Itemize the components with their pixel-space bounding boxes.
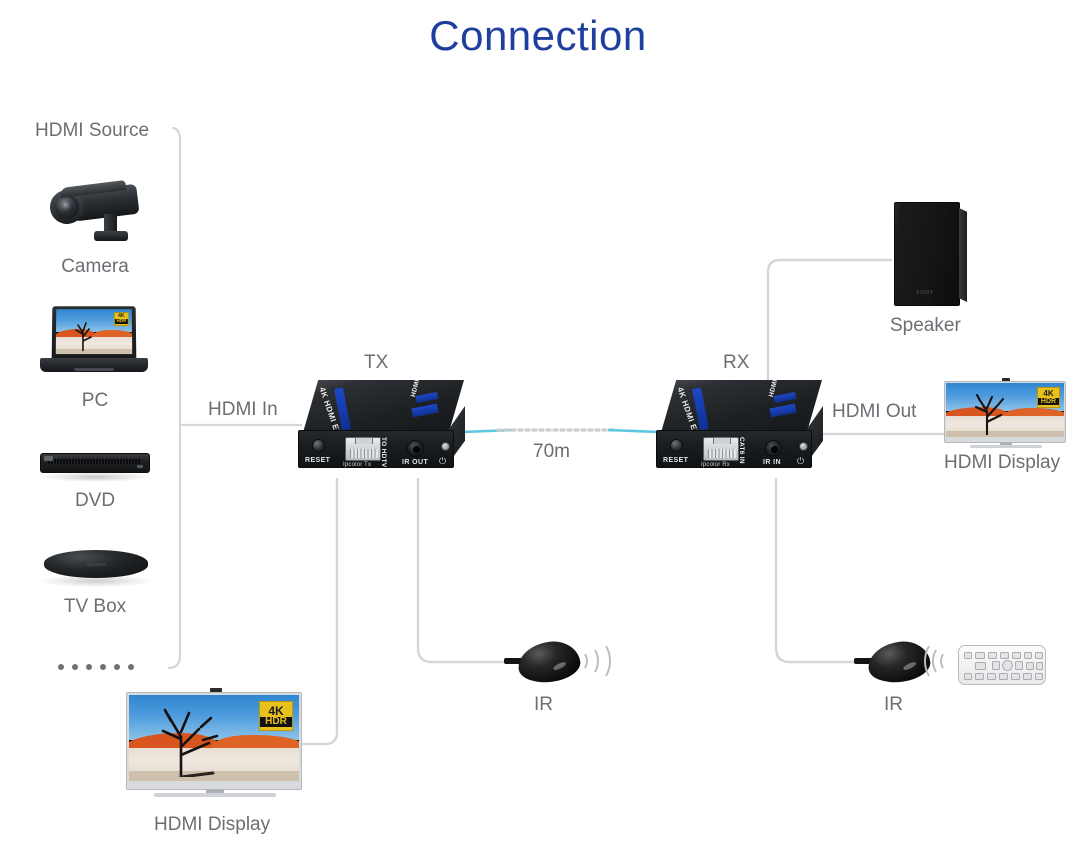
laptop-icon: 4K HDR bbox=[40, 306, 150, 382]
cable-rx-ir-in bbox=[776, 478, 858, 662]
tx-rj45-label: Ipcolor Tx bbox=[343, 462, 371, 468]
tx-power-led bbox=[441, 442, 450, 451]
tx-rj45-side-label: TO HDTV bbox=[380, 437, 387, 468]
cable-tx-ir-out bbox=[418, 478, 508, 662]
power-icon: ⏻ bbox=[797, 456, 804, 467]
rx-rj45-label: Ipcolor Rx bbox=[701, 462, 730, 468]
tx-ir-out-jack[interactable] bbox=[407, 440, 424, 457]
rx-label: RX bbox=[723, 352, 749, 374]
rx-front-panel: RESET Ipcolor Rx CAT6 IN IR IN ⏻ bbox=[656, 430, 812, 468]
tx-rj45-notch bbox=[355, 437, 373, 444]
tx-front-panel: RESET Ipcolor Tx TO HDTV IR OUT ⏻ bbox=[298, 430, 454, 468]
source-label-dvd: DVD bbox=[20, 490, 170, 512]
rx-rj45-side-label: CAT6 IN bbox=[738, 437, 745, 464]
dvd-player-icon bbox=[38, 450, 153, 484]
tv-box-icon bbox=[40, 548, 152, 588]
cable-tx-to-display bbox=[302, 478, 337, 744]
hdmi-in-label: HDMI In bbox=[208, 399, 278, 421]
remote-control-icon bbox=[958, 645, 1046, 685]
rx-rj45-pins bbox=[708, 449, 736, 458]
diagram-canvas: Connection HDMI Source bbox=[0, 0, 1076, 848]
rx-reset-button[interactable] bbox=[670, 439, 683, 452]
source-label-pc: PC bbox=[20, 390, 170, 412]
hdmi-display-bottom-label: HDMI Display bbox=[154, 814, 270, 836]
distance-label: 70m bbox=[533, 441, 570, 463]
rx-power-led bbox=[799, 442, 808, 451]
security-camera-icon bbox=[38, 176, 152, 256]
speaker-label: Speaker bbox=[890, 315, 961, 337]
source-label-tvbox: TV Box bbox=[20, 596, 170, 618]
cable-cat6-right bbox=[608, 430, 660, 432]
ir-tx-label: IR bbox=[534, 694, 553, 716]
badge-hdr-text: HDR bbox=[260, 717, 292, 727]
rx-rj45-port[interactable] bbox=[703, 437, 739, 461]
tx-rj45-port[interactable] bbox=[345, 437, 381, 461]
rx-rj45-notch bbox=[713, 437, 731, 444]
ellipsis-dots-icon bbox=[58, 664, 134, 670]
hdmi-source-label: HDMI Source bbox=[35, 120, 149, 142]
badge-hdr-text: HDR bbox=[115, 319, 128, 323]
ir-wave-3-icon bbox=[924, 641, 944, 681]
tx-reset-label: RESET bbox=[305, 457, 330, 464]
tx-ir-out-label: IR OUT bbox=[402, 459, 428, 466]
rx-extender-device[interactable]: 4K HDMI EXTENDER HDMI RESET Ipcolor Rx C… bbox=[656, 380, 822, 472]
hdmi-display-right-label: HDMI Display bbox=[944, 452, 1060, 474]
ir-emitter-tx bbox=[504, 638, 604, 690]
badge-hdr-text: HDR bbox=[1038, 398, 1059, 405]
hdmi-display-bottom-icon: 4K HDR bbox=[126, 688, 304, 800]
power-icon: ⏻ bbox=[439, 456, 446, 467]
source-label-camera: Camera bbox=[20, 256, 170, 278]
ir-receiver-rx bbox=[854, 638, 958, 690]
tx-extender-device[interactable]: 4K HDMI EXTENDER HDMI RESET Ipcolor Tx T… bbox=[298, 380, 464, 472]
ir-rx-label: IR bbox=[884, 694, 903, 716]
tx-rj45-pins bbox=[350, 449, 378, 458]
tx-label: TX bbox=[364, 352, 388, 374]
rx-ir-in-label: IR IN bbox=[763, 459, 781, 466]
hdmi-out-label: HDMI Out bbox=[832, 401, 916, 423]
hdmi-display-right-icon: 4K HDR bbox=[944, 378, 1068, 452]
tx-reset-button[interactable] bbox=[312, 439, 325, 452]
speaker-icon: SONY bbox=[890, 198, 972, 308]
rx-reset-label: RESET bbox=[663, 457, 688, 464]
badge-4k-text: 4K bbox=[1043, 390, 1053, 398]
rx-ir-in-jack[interactable] bbox=[765, 440, 782, 457]
